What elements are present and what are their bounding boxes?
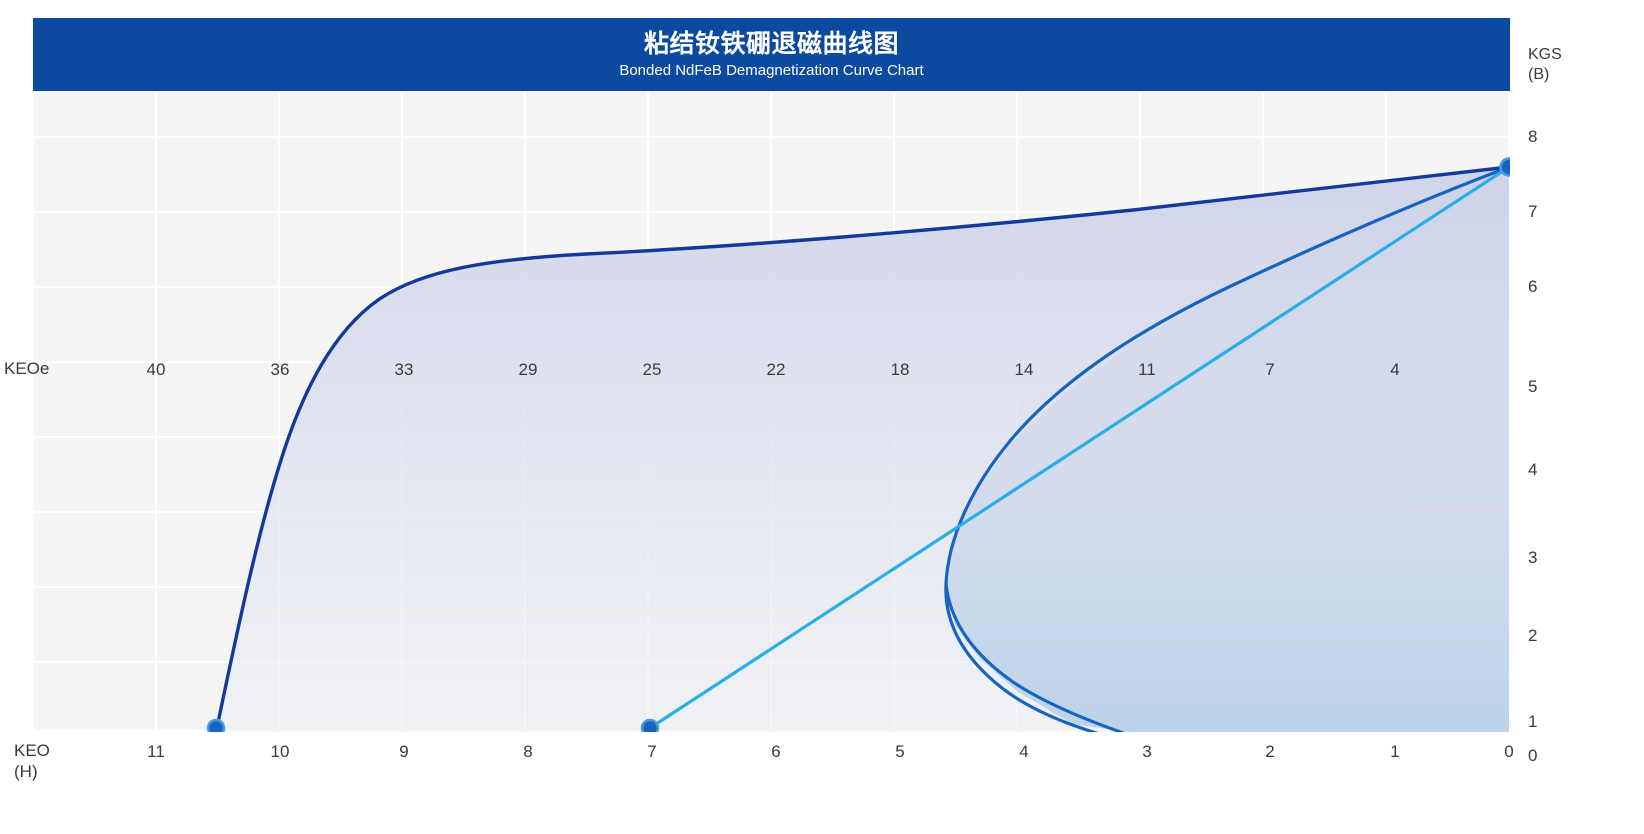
chart-title-cn: 粘结钕铁硼退磁曲线图: [644, 29, 899, 59]
keoe-tick-4: 4: [1390, 360, 1399, 380]
keoe-tick-36: 36: [271, 360, 290, 380]
x-axis-tick-9: 9: [399, 742, 408, 762]
y-axis-tick-2: 2: [1528, 626, 1537, 646]
marker-intrinsic-curve-start: [208, 720, 224, 732]
keoe-tick-40: 40: [147, 360, 166, 380]
keoe-tick-29: 29: [519, 360, 538, 380]
right-axis-unit-label: KGS (B): [1528, 45, 1562, 85]
y-axis-tick-7: 7: [1528, 202, 1537, 222]
y-axis-tick-0: 0: [1528, 746, 1537, 766]
keoe-tick-33: 33: [395, 360, 414, 380]
y-axis-tick-8: 8: [1528, 127, 1537, 147]
y-axis-tick-5: 5: [1528, 377, 1537, 397]
x-axis-tick-1: 1: [1390, 742, 1399, 762]
x-axis-tick-7: 7: [647, 742, 656, 762]
marker-curves-convergence-point: [1501, 159, 1511, 176]
x-axis-tick-2: 2: [1265, 742, 1274, 762]
plot-area: [33, 92, 1510, 732]
x-axis-tick-4: 4: [1019, 742, 1028, 762]
y-axis-tick-4: 4: [1528, 460, 1537, 480]
y-axis-tick-1: 1: [1528, 712, 1537, 732]
chart-header-banner: 粘结钕铁硼退磁曲线图 Bonded NdFeB Demagnetization …: [33, 18, 1510, 91]
keoe-tick-25: 25: [643, 360, 662, 380]
keoe-tick-22: 22: [767, 360, 786, 380]
bottom-axis-unit-label: KEO (H): [14, 740, 50, 782]
demagnetization-curve-svg: [33, 92, 1510, 732]
y-axis-tick-3: 3: [1528, 548, 1537, 568]
middle-axis-unit-label: KEOe: [4, 358, 49, 379]
y-axis-tick-6: 6: [1528, 277, 1537, 297]
keoe-tick-18: 18: [891, 360, 910, 380]
x-axis-tick-6: 6: [771, 742, 780, 762]
x-axis-tick-11: 11: [147, 742, 165, 762]
keoe-tick-7: 7: [1265, 360, 1274, 380]
x-axis-tick-3: 3: [1142, 742, 1151, 762]
intrinsic-curve-fill: [216, 167, 1509, 732]
keoe-tick-14: 14: [1015, 360, 1034, 380]
chart-page: 粘结钕铁硼退磁曲线图 Bonded NdFeB Demagnetization …: [0, 0, 1644, 834]
x-axis-tick-5: 5: [895, 742, 904, 762]
chart-title-en: Bonded NdFeB Demagnetization Curve Chart: [619, 61, 923, 81]
keoe-tick-11: 11: [1138, 360, 1156, 380]
x-axis-tick-0: 0: [1504, 742, 1513, 762]
marker-load-line-start: [642, 720, 658, 732]
x-axis-tick-10: 10: [271, 742, 290, 762]
x-axis-tick-8: 8: [523, 742, 532, 762]
